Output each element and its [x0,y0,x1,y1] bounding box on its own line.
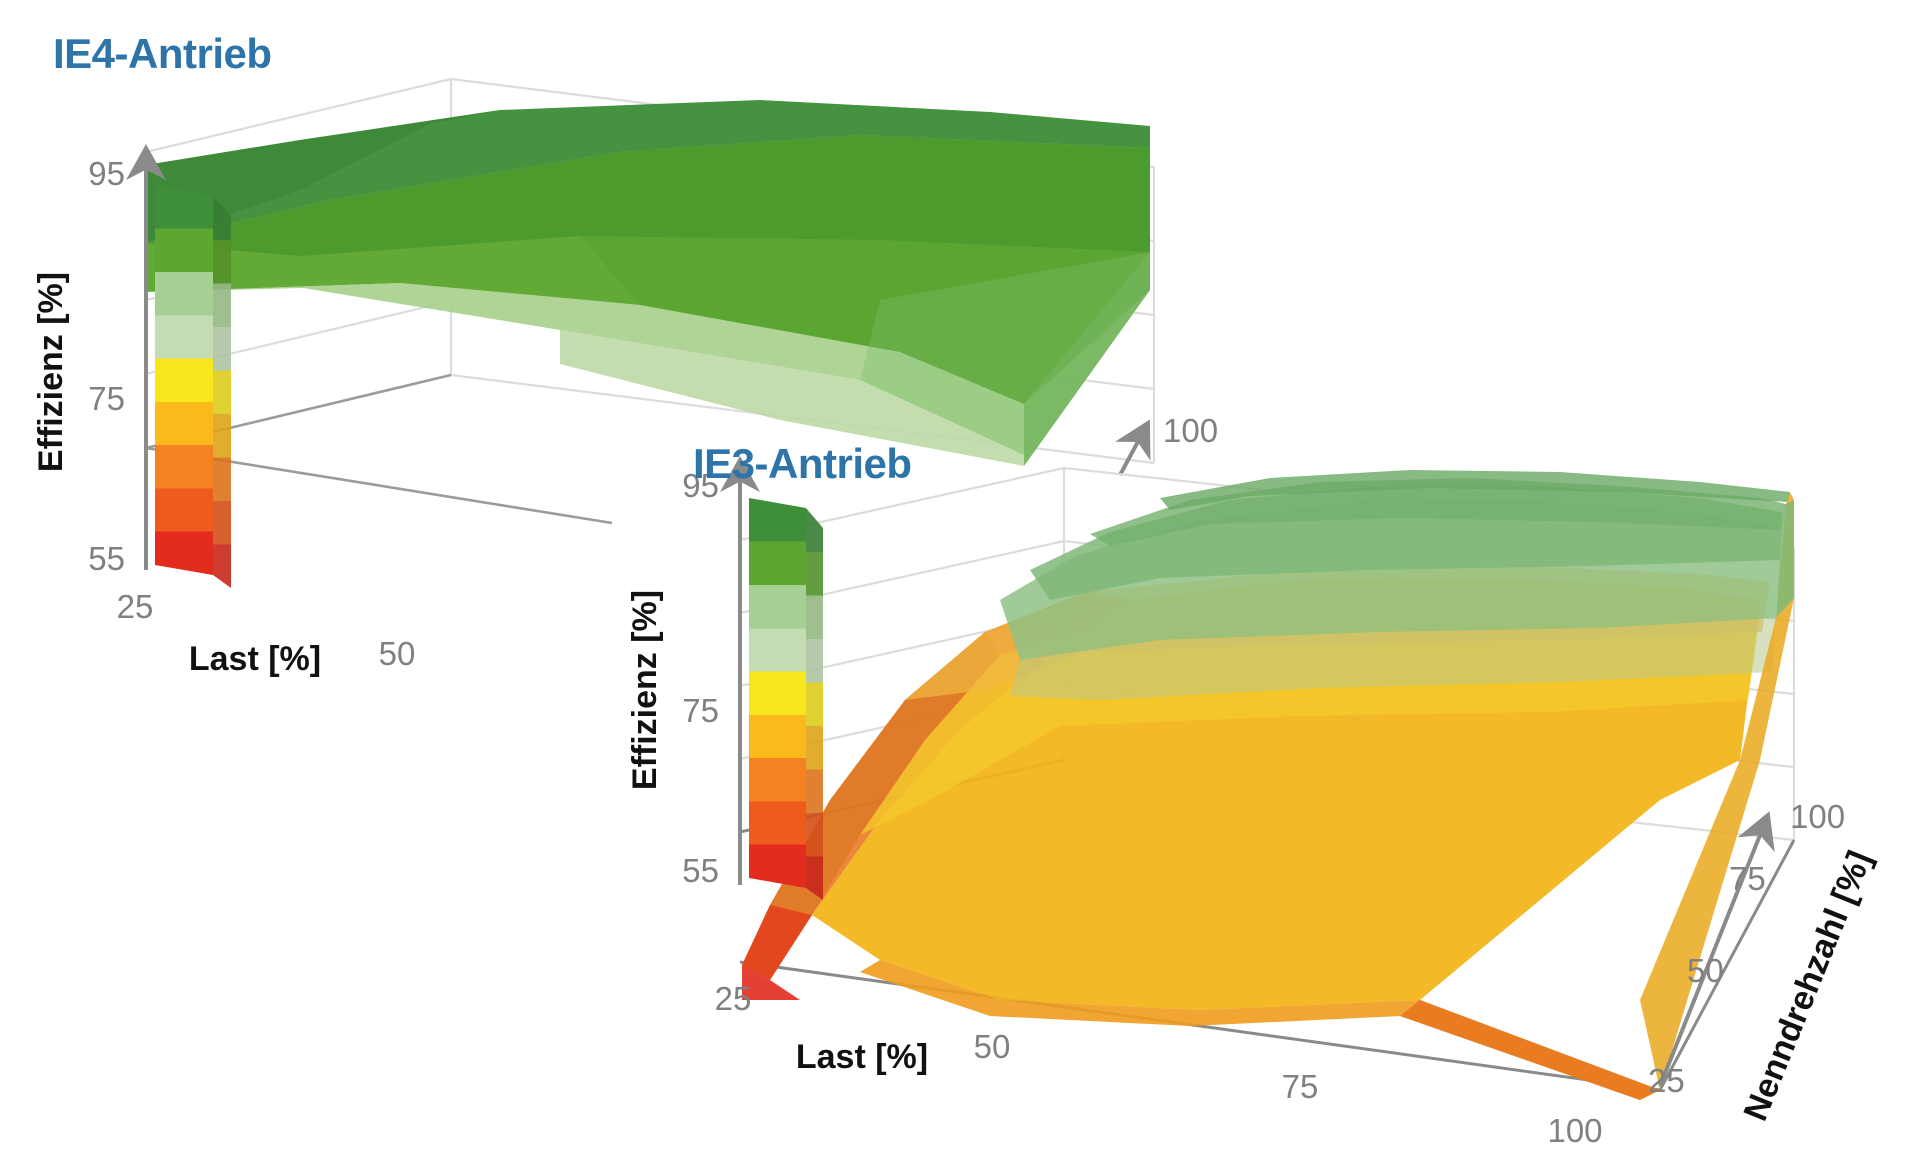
ie3-x-tick-100: 100 [1547,1112,1602,1149]
ie4-z-tick-55: 55 [88,540,125,577]
ie3-z-tick-55: 55 [682,852,719,889]
ie4-colorbar [155,185,231,588]
ie4-panel-title: IE4-Antrieb [53,30,272,77]
panel-ie3: 95 75 55 Effizienz [%] 25 50 75 100 Last… [626,440,1879,1149]
ie4-x-tick-50: 50 [379,635,416,672]
ie3-x-tick-75: 75 [1282,1068,1319,1105]
ie3-y-tick-50: 50 [1687,952,1724,989]
ie3-y-tick-100: 100 [1790,798,1845,835]
ie4-y-tick-100: 100 [1163,412,1218,449]
ie4-y-axis [1120,423,1148,475]
ie3-x-tick-50: 50 [974,1028,1011,1065]
ie3-y-tick-75: 75 [1729,860,1766,897]
ie3-x-axis-label: Last [%] [796,1038,928,1076]
ie3-colorbar [749,498,823,900]
ie3-x-tick-25: 25 [715,980,752,1017]
ie4-x-axis-label: Last [%] [189,640,321,678]
figure-canvas: 95 75 55 Effizienz [%] 25 50 Last [%] 10… [0,0,1920,1152]
surface-plot-figure: 95 75 55 Effizienz [%] 25 50 Last [%] 10… [0,0,1920,1152]
ie3-y-tick-25: 25 [1648,1062,1685,1099]
ie3-z-tick-75: 75 [682,692,719,729]
ie4-z-tick-75: 75 [88,380,125,417]
ie3-surface [742,470,1794,1100]
ie4-z-axis-label: Effizienz [%] [32,272,70,472]
ie4-z-tick-95: 95 [88,155,125,192]
ie3-panel-title: IE3-Antrieb [693,440,912,487]
ie3-z-axis-label: Effizienz [%] [626,590,664,790]
ie4-x-tick-25: 25 [117,588,154,625]
